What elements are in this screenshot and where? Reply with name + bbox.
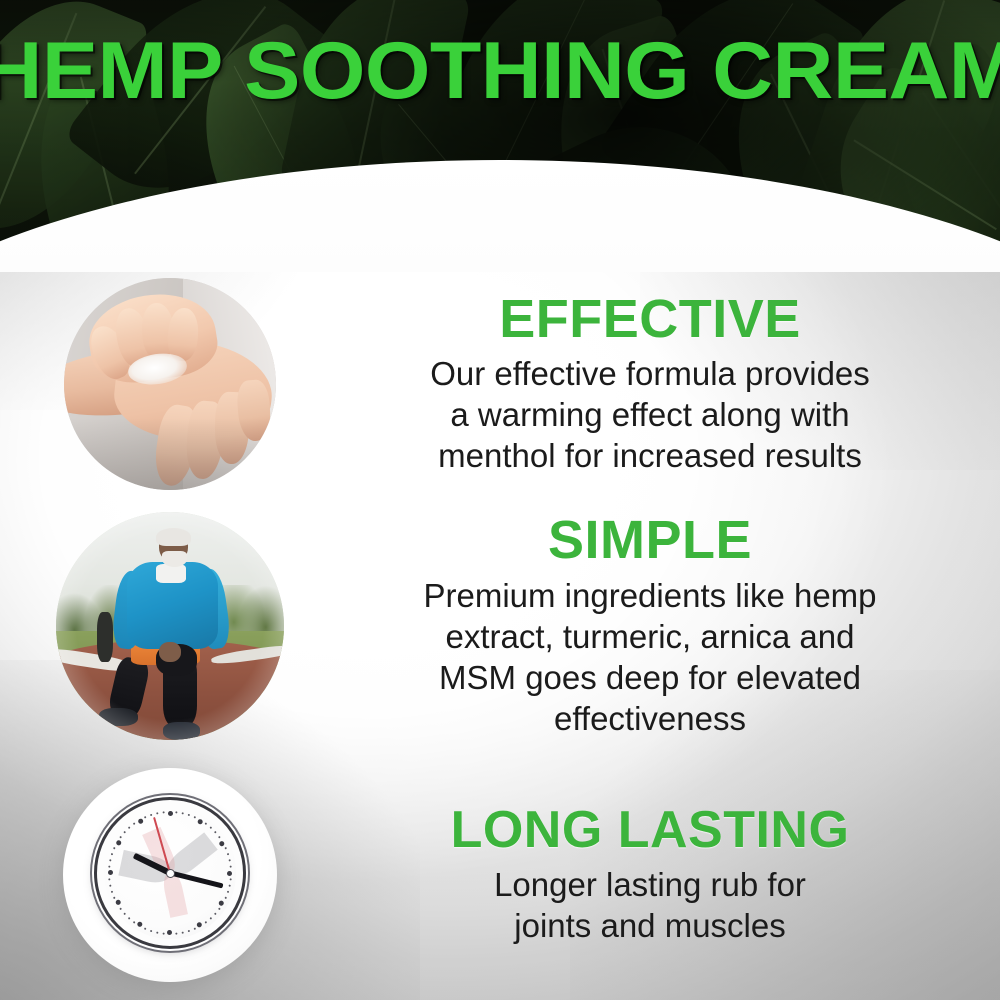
feature-simple-heading: SIMPLE bbox=[340, 513, 960, 568]
senior-runner-stretching-image bbox=[56, 512, 284, 740]
hands-applying-cream-image bbox=[64, 278, 276, 490]
feature-long-lasting-line-2: joints and muscles bbox=[340, 905, 960, 946]
feature-simple-line-1: Premium ingredients like hemp bbox=[340, 575, 960, 616]
feature-long-lasting-media bbox=[0, 768, 340, 982]
feature-effective-body: Our effective formula provides a warming… bbox=[340, 353, 960, 476]
wall-clock-image bbox=[63, 768, 277, 982]
feature-simple-line-2: extract, turmeric, arnica and bbox=[340, 616, 960, 657]
feature-effective-heading: EFFECTIVE bbox=[340, 292, 960, 347]
feature-effective-line-1: Our effective formula provides bbox=[340, 353, 960, 394]
feature-effective-line-2: a warming effect along with bbox=[340, 394, 960, 435]
feature-long-lasting-line-1: Longer lasting rub for bbox=[340, 864, 960, 905]
feature-effective-text: EFFECTIVE Our effective formula provides… bbox=[340, 292, 1000, 476]
clock-center-pin bbox=[166, 869, 175, 878]
feature-effective-line-3: menthol for increased results bbox=[340, 435, 960, 476]
feature-effective-media bbox=[0, 278, 340, 490]
feature-long-lasting: LONG LASTING Longer lasting rub for join… bbox=[0, 768, 1000, 982]
feature-long-lasting-text: LONG LASTING Longer lasting rub for join… bbox=[340, 804, 1000, 945]
feature-long-lasting-body: Longer lasting rub for joints and muscle… bbox=[340, 864, 960, 946]
feature-simple-body: Premium ingredients like hemp extract, t… bbox=[340, 575, 960, 739]
clock-face bbox=[104, 807, 236, 939]
feature-simple: SIMPLE Premium ingredients like hemp ext… bbox=[0, 512, 1000, 740]
product-infographic: HEMP SOOTHING CREAM EFFEC bbox=[0, 0, 1000, 1000]
feature-simple-text: SIMPLE Premium ingredients like hemp ext… bbox=[340, 513, 1000, 738]
feature-long-lasting-heading: LONG LASTING bbox=[340, 804, 960, 857]
feature-effective: EFFECTIVE Our effective formula provides… bbox=[0, 278, 1000, 490]
page-title: HEMP SOOTHING CREAM bbox=[0, 34, 1000, 108]
feature-simple-media bbox=[0, 512, 340, 740]
feature-simple-line-3: MSM goes deep for elevated bbox=[340, 657, 960, 698]
feature-simple-line-4: effectiveness bbox=[340, 698, 960, 739]
feature-list: EFFECTIVE Our effective formula provides… bbox=[0, 0, 1000, 1000]
